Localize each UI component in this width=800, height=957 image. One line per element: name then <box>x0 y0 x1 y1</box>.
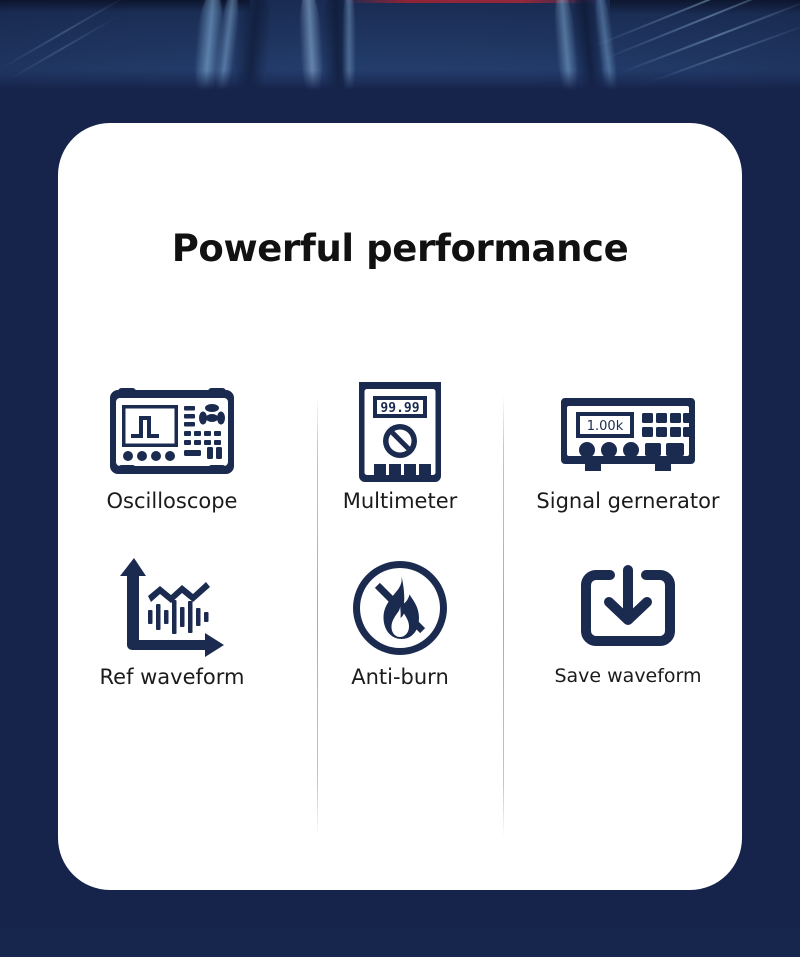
download-save-icon <box>579 553 677 663</box>
multimeter-icon: 99.99 <box>357 377 443 487</box>
banner-shadow-right <box>610 0 800 14</box>
silk-banner <box>0 0 800 90</box>
signal-generator-display-value: 1.00k <box>587 419 624 434</box>
feature-card: Powerful performance <box>58 123 742 890</box>
feature-item-oscilloscope[interactable]: Oscilloscope <box>58 377 286 553</box>
signal-generator-icon: 1.00k <box>561 377 695 487</box>
feature-label: Ref waveform <box>100 665 245 689</box>
banner-fade <box>0 70 800 90</box>
feature-item-anti-burn[interactable]: Anti-burn <box>286 553 514 729</box>
feature-item-signal-generator[interactable]: 1.00k <box>514 377 742 553</box>
oscilloscope-icon <box>108 377 236 487</box>
feature-label: Save waveform <box>554 665 701 687</box>
feature-item-ref-waveform[interactable]: Ref waveform <box>58 553 286 729</box>
promo-page: Powerful performance <box>0 0 800 957</box>
feature-item-save-waveform[interactable]: Save waveform <box>514 553 742 729</box>
background-bottom-band <box>0 928 800 957</box>
feature-label: Signal gernerator <box>536 489 719 513</box>
no-fire-icon <box>351 553 449 663</box>
multimeter-display-value: 99.99 <box>380 401 419 416</box>
feature-label: Oscilloscope <box>107 489 238 513</box>
feature-grid: Oscilloscope 99.99 <box>58 377 742 729</box>
page-title: Powerful performance <box>58 227 742 270</box>
feature-label: Anti-burn <box>351 665 449 689</box>
feature-item-multimeter[interactable]: 99.99 Multimeter <box>286 377 514 553</box>
waveform-chart-icon <box>120 553 224 663</box>
feature-label: Multimeter <box>343 489 458 513</box>
